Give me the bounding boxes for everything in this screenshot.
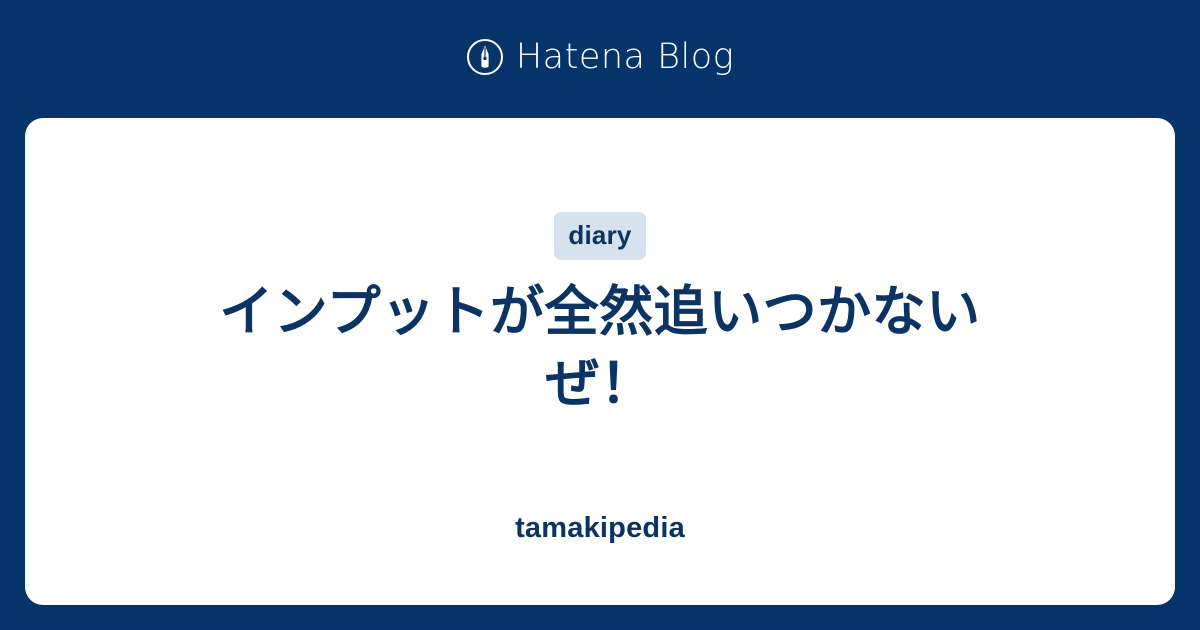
category-badge[interactable]: diary bbox=[554, 212, 645, 260]
entry-title: インプットが全然追いつかないぜ！ bbox=[200, 277, 1000, 421]
blog-name[interactable]: tamakipedia bbox=[515, 514, 685, 543]
site-header: Hatena Blog bbox=[0, 0, 1200, 118]
pen-nib-in-circle-icon bbox=[466, 38, 504, 76]
service-name-label: Hatena Blog bbox=[516, 40, 734, 75]
hatena-blog-logo[interactable]: Hatena Blog bbox=[466, 38, 734, 76]
entry-card-content: diary インプットが全然追いつかないぜ！ tamakipedia bbox=[25, 118, 1175, 605]
entry-card: diary インプットが全然追いつかないぜ！ tamakipedia bbox=[25, 118, 1175, 605]
